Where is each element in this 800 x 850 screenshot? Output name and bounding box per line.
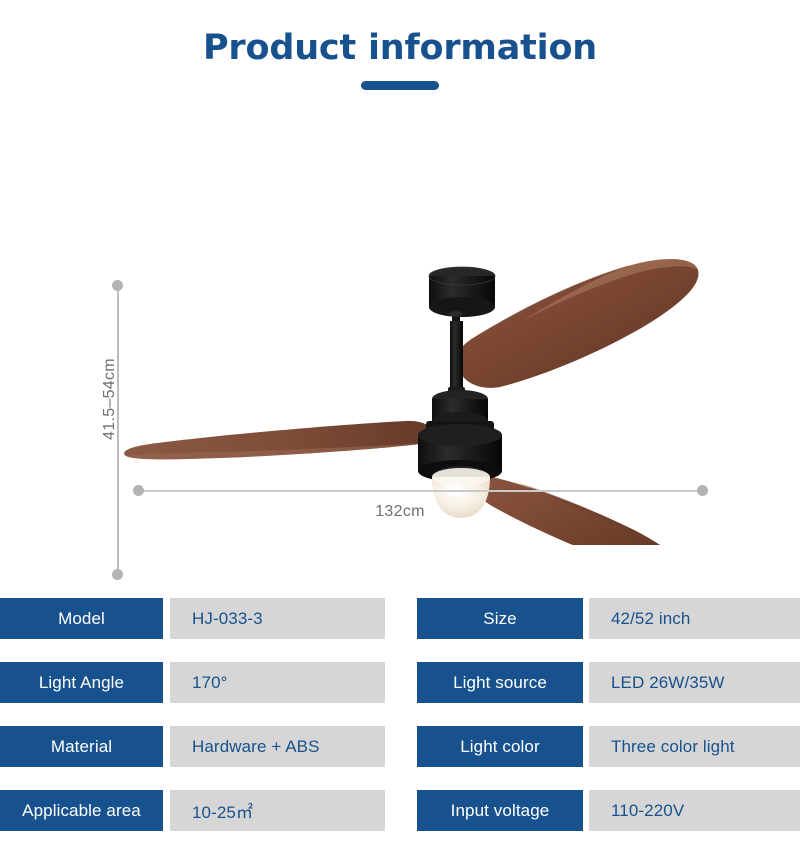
product-information-page: Product information [0, 0, 800, 850]
height-dimension-dot-top [112, 280, 123, 291]
fan-ceiling-canopy [429, 267, 495, 317]
spec-label-light-source: Light source [417, 662, 583, 703]
width-dimension-dot-right [697, 485, 708, 496]
ceiling-fan-illustration [0, 125, 800, 545]
spec-value-material: Hardware + ABS [170, 726, 385, 767]
table-row: Size 42/52 inch [417, 598, 800, 639]
table-row: Light source LED 26W/35W [417, 662, 800, 703]
table-row: Model HJ-033-3 [0, 598, 385, 639]
spec-label-light-angle: Light Angle [0, 662, 163, 703]
spec-value-light-source: LED 26W/35W [589, 662, 800, 703]
spec-label-size: Size [417, 598, 583, 639]
table-row: Applicable area 10-25㎡ [0, 790, 385, 831]
product-image-area: 41.5–54cm 132cm [0, 125, 800, 545]
table-row: Light color Three color light [417, 726, 800, 767]
spec-label-applicable-area: Applicable area [0, 790, 163, 831]
table-row: Material Hardware + ABS [0, 726, 385, 767]
width-dimension-line [138, 490, 703, 492]
height-dimension-label: 41.5–54cm [101, 339, 119, 459]
page-title: Product information [0, 26, 800, 70]
spec-column-left: Model HJ-033-3 Light Angle 170° Material… [0, 598, 385, 831]
spec-value-input-voltage: 110-220V [589, 790, 800, 831]
width-dimension-label: 132cm [0, 503, 800, 521]
page-header: Product information [0, 26, 800, 90]
spec-value-light-color: Three color light [589, 726, 800, 767]
fan-downrod [448, 311, 465, 395]
spec-column-right: Size 42/52 inch Light source LED 26W/35W… [417, 598, 800, 831]
title-underline-bar [361, 81, 439, 90]
spec-label-light-color: Light color [417, 726, 583, 767]
spec-label-input-voltage: Input voltage [417, 790, 583, 831]
spec-label-material: Material [0, 726, 163, 767]
fan-blade-left [124, 421, 433, 459]
height-dimension-dot-bottom [112, 569, 123, 580]
spec-value-size: 42/52 inch [589, 598, 800, 639]
spec-value-applicable-area: 10-25㎡ [170, 790, 385, 831]
specification-table: Model HJ-033-3 Light Angle 170° Material… [0, 598, 800, 831]
table-row: Input voltage 110-220V [417, 790, 800, 831]
width-dimension-dot-left [133, 485, 144, 496]
spec-value-light-angle: 170° [170, 662, 385, 703]
spec-column-gap [385, 598, 417, 831]
spec-label-model: Model [0, 598, 163, 639]
spec-value-model: HJ-033-3 [170, 598, 385, 639]
table-row: Light Angle 170° [0, 662, 385, 703]
